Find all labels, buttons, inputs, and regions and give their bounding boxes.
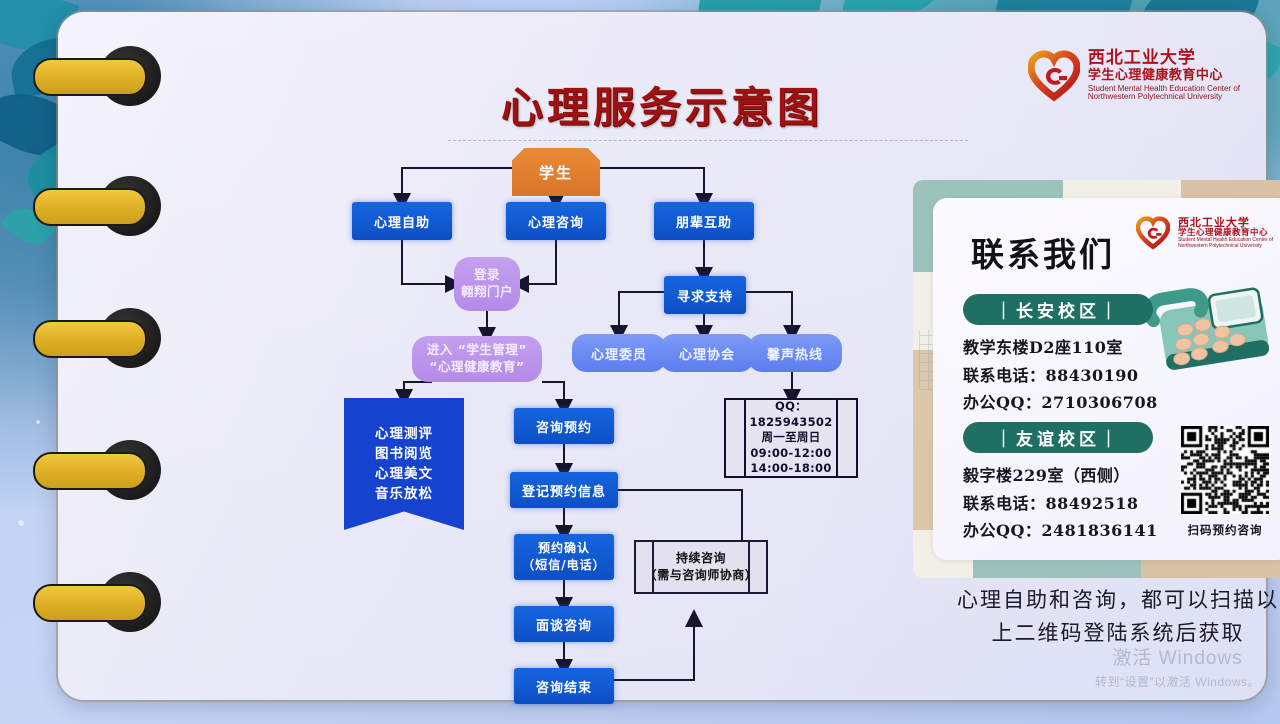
flow-node-self-help-label: 心理自助: [374, 212, 430, 231]
card-logo-en-line2: Northwestern Polytechnical University: [1178, 244, 1273, 249]
ribbon-line-3: 心理美文: [375, 464, 433, 484]
box-divider-right: [748, 542, 750, 592]
card-logo-cn-line1: 西北工业大学: [1178, 217, 1273, 229]
poster-board: 心理服务示意图 西北工业大学 学生心: [58, 12, 1266, 700]
step-2-line1: 预约确认: [538, 540, 590, 557]
binder-ring-bar: [33, 320, 147, 358]
campus-badge-youyi: ｜友谊校区｜: [963, 422, 1153, 453]
step-3-label: 面谈咨询: [536, 615, 592, 634]
qq-line3: 周一至周日: [762, 430, 821, 446]
ribbon-line-1: 心理测评: [375, 424, 433, 444]
support-child-2-label: 馨声热线: [767, 344, 823, 363]
university-logo: 西北工业大学 学生心理健康教育中心 Student Mental Health …: [1028, 50, 1240, 102]
poster-screenshot: 心理服务示意图 西北工业大学 学生心: [0, 0, 1280, 724]
flow-node-psych-association[interactable]: 心理协会: [660, 334, 754, 372]
flow-node-hotline[interactable]: 馨声热线: [748, 334, 842, 372]
ribbon-line-4: 音乐放松: [375, 484, 433, 504]
box-divider-right: [836, 400, 838, 476]
flow-node-continued-counseling[interactable]: 持续咨询 （需与咨询师协商）: [634, 540, 768, 594]
sparkle-decoration: [36, 420, 40, 424]
campus1-phone: 联系电话：88430190: [963, 362, 1158, 390]
flow-node-self-help[interactable]: 心理自助: [352, 202, 452, 240]
logo-cn-line2: 学生心理健康教育中心: [1088, 69, 1240, 83]
binder-ring-bar: [33, 452, 147, 490]
qq-line5: 14:00-18:00: [750, 461, 831, 477]
flow-node-appointment-request[interactable]: 咨询预约: [514, 408, 614, 444]
continue-line2: （需与咨询师协商）: [645, 567, 758, 584]
flow-node-peer-support-label: 朋辈互助: [676, 212, 732, 231]
sparkle-decoration: [18, 520, 24, 526]
campus1-qq: 办公QQ：2710306708: [963, 389, 1158, 417]
contact-card-logo-text: 西北工业大学 学生心理健康教育中心 Student Mental Health …: [1178, 217, 1273, 249]
qr-caption: 扫码预约咨询: [1181, 522, 1269, 538]
campus1-address: 教学东楼D2座110室: [963, 334, 1158, 362]
binder-ring: [33, 312, 161, 364]
portal-line2: “心理健康教育”: [429, 359, 524, 376]
step-2-line2: （短信/电话）: [522, 557, 605, 574]
flow-node-student[interactable]: 学生: [512, 148, 600, 196]
support-child-1-label: 心理协会: [679, 344, 735, 363]
contact-card-panel: 联系我们: [933, 198, 1280, 560]
campus2-details: 毅字楼229室（西侧） 联系电话：88492518 办公QQ：248183614…: [963, 462, 1158, 545]
heart-logo-icon: [1028, 50, 1080, 102]
campus-badge-changan: ｜长安校区｜: [963, 294, 1153, 325]
flow-node-counseling[interactable]: 心理咨询: [506, 202, 606, 240]
logo-en-line2: Northwestern Polytechnical University: [1088, 93, 1240, 101]
binder-ring: [33, 50, 161, 102]
qr-code-icon[interactable]: [1181, 426, 1269, 514]
flow-ribbon-self-help-services: 心理测评 图书阅览 心理美文 音乐放松: [344, 398, 464, 530]
step-4-label: 咨询结束: [536, 677, 592, 696]
campus1-details: 教学东楼D2座110室 联系电话：88430190 办公QQ：271030670…: [963, 334, 1158, 417]
telephone-illustration-icon: [1139, 274, 1279, 378]
binder-ring-bar: [33, 58, 147, 96]
flow-node-appointment-confirm[interactable]: 预约确认 （短信/电话）: [514, 534, 614, 580]
footer-note-line1: 心理自助和咨询，都可以扫描以: [913, 584, 1280, 617]
campus2-badge-label: ｜友谊校区｜: [995, 425, 1121, 450]
campus2-qq: 办公QQ：2481836141: [963, 517, 1158, 545]
flow-node-login-portal[interactable]: 登录 翱翔门户: [454, 257, 520, 311]
qq-line4: 09:00-12:00: [750, 446, 831, 462]
qq-line1: QQ：: [775, 399, 807, 415]
flow-node-class-commissioner[interactable]: 心理委员: [572, 334, 666, 372]
box-divider-left: [652, 542, 654, 592]
flow-node-seek-support[interactable]: 寻求支持: [664, 276, 746, 314]
university-logo-text: 西北工业大学 学生心理健康教育中心 Student Mental Health …: [1088, 50, 1240, 101]
footer-note-line2: 上二维码登陆系统后获取: [913, 617, 1280, 650]
ribbon-line-2: 图书阅览: [375, 444, 433, 464]
flow-node-face-to-face[interactable]: 面谈咨询: [514, 606, 614, 642]
flow-node-peer-support[interactable]: 朋辈互助: [654, 202, 754, 240]
binder-ring: [33, 444, 161, 496]
contact-card-logo: 西北工业大学 学生心理健康教育中心 Student Mental Health …: [1136, 216, 1273, 250]
contact-card: 联系我们: [913, 180, 1280, 578]
binder-ring-bar: [33, 584, 147, 622]
footer-note: 心理自助和咨询，都可以扫描以 上二维码登陆系统后获取: [913, 584, 1280, 649]
support-label: 寻求支持: [677, 286, 733, 305]
binder-ring: [33, 180, 161, 232]
flow-node-enter-module[interactable]: 进入 “学生管理” “心理健康教育”: [412, 336, 542, 382]
logo-cn-line1: 西北工业大学: [1088, 50, 1240, 68]
flow-node-counseling-label: 心理咨询: [528, 212, 584, 231]
portal-line1: 进入 “学生管理”: [427, 342, 527, 359]
card-logo-cn-line2: 学生心理健康教育中心: [1178, 229, 1273, 238]
campus2-address: 毅字楼229室（西侧）: [963, 462, 1158, 490]
continue-line1: 持续咨询: [676, 550, 726, 567]
step-0-label: 咨询预约: [536, 417, 592, 436]
login-line2: 翱翔门户: [461, 284, 513, 301]
heart-logo-icon: [1136, 216, 1170, 250]
flow-node-register-info[interactable]: 登记预约信息: [510, 472, 618, 508]
login-line1: 登录: [474, 267, 500, 284]
campus1-badge-label: ｜长安校区｜: [995, 297, 1121, 322]
contact-card-title: 联系我们: [971, 228, 1115, 276]
binder-ring: [33, 576, 161, 628]
binder-ring-bar: [33, 188, 147, 226]
campus2-phone: 联系电话：88492518: [963, 490, 1158, 518]
qq-line2: 1825943502: [749, 415, 832, 431]
flow-node-student-label: 学生: [539, 162, 573, 183]
flow-node-session-end[interactable]: 咨询结束: [514, 668, 614, 704]
flow-node-qq-hotline-info[interactable]: QQ： 1825943502 周一至周日 09:00-12:00 14:00-1…: [724, 398, 858, 478]
service-flowchart: 学生 心理自助 心理咨询 朋辈互助 登录 翱翔门户 进入 “学生管理” “心理健…: [314, 136, 914, 696]
support-child-0-label: 心理委员: [591, 344, 647, 363]
box-divider-left: [744, 400, 746, 476]
step-1-label: 登记预约信息: [522, 481, 606, 500]
